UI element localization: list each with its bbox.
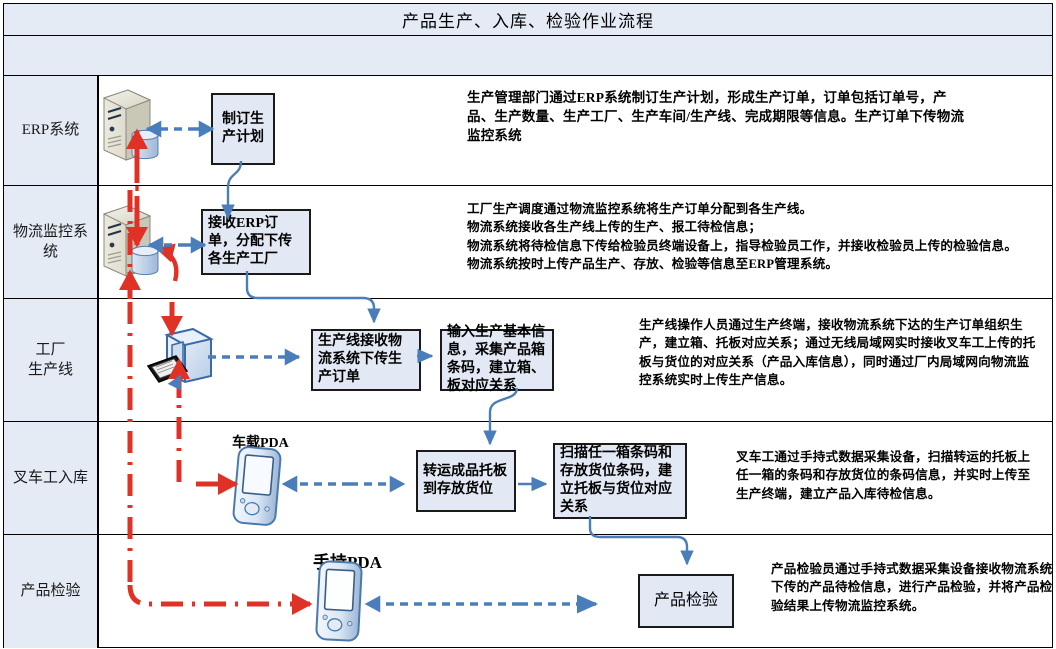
lane-body-factory-line: 生产线接收物流系统下传生产订单 输入生产基本信息，采集产品箱条码，建立箱、板对应…: [99, 299, 1052, 421]
process-box-inspect-product-label: 产品检验: [654, 591, 718, 611]
process-box-make-plan-label: 制订生 产计划: [222, 111, 264, 147]
spacer-row: [4, 36, 1052, 76]
process-box-move-pallet[interactable]: 转运成品托板到存放货位: [416, 450, 516, 512]
lane-factory-line: 工厂 生产线 生产线接收物流系统下传生产订单 输入生产基本信息，采集产品箱条码，…: [4, 299, 1052, 422]
lane-erp: ERP系统 制订生 产计划 生产管理部门通过ERP系统制订生产计划，形成生产订单…: [4, 76, 1052, 186]
flowchart-page: 产品生产、入库、检验作业流程 ERP系统 制订生 产计划 生产管理部门通过ERP…: [0, 0, 1056, 649]
lane-body-forklift-inbound: 车载PDA 转运成品托板到存放货位 扫描任一箱条码和存放货位条码，建立托板与货位…: [99, 422, 1052, 534]
diagram-title-row: 产品生产、入库、检验作业流程: [4, 4, 1052, 36]
process-box-inspect-product[interactable]: 产品检验: [638, 574, 734, 628]
lane-logistics: 物流监控系统 接收ERP订单，分配下传各生产工厂 工厂生产调度通过物流监控系统将…: [4, 186, 1052, 299]
device-caption-handheld-pda: 手持PDA: [313, 548, 382, 573]
process-box-input-basic-info[interactable]: 输入生产基本信息，采集产品箱条码，建立箱、板对应关系: [440, 329, 554, 391]
lane-forklift-inbound: 叉车工入库 车载PDA 转运成品托板到存放货位 扫描任一箱条码和存放货位条码，建…: [4, 422, 1052, 535]
process-box-scan-barcode-label: 扫描任一箱条码和存放货位条码，建立托板与货位对应关系: [560, 445, 680, 517]
process-box-input-basic-info-label: 输入生产基本信息，采集产品箱条码，建立箱、板对应关系: [447, 324, 547, 396]
description-erp: 生产管理部门通过ERP系统制订生产计划，形成生产订单，订单包括订单号，产品、生产…: [467, 88, 972, 145]
description-logistics: 工厂生产调度通过物流监控系统将生产订单分配到各生产线。 物流系统接收各生产线上传…: [467, 200, 1037, 273]
lane-label-logistics: 物流监控系统: [4, 186, 99, 298]
swimlane-table: 产品生产、入库、检验作业流程 ERP系统 制订生 产计划 生产管理部门通过ERP…: [3, 3, 1053, 648]
lane-label-erp: ERP系统: [4, 76, 99, 185]
lane-label-factory-line: 工厂 生产线: [4, 299, 99, 421]
process-box-line-receive-order[interactable]: 生产线接收物流系统下传生产订单: [311, 329, 421, 391]
process-box-line-receive-order-label: 生产线接收物流系统下传生产订单: [318, 333, 414, 387]
description-forklift-inbound: 叉车工通过手持式数据采集设备，扫描转运的托板上任一箱的条码和存放货位的条码信息，…: [736, 448, 1041, 503]
description-product-inspection: 产品检验员通过手持式数据采集设备接收物流系统下传的产品待检信息，进行产品检验，并…: [771, 560, 1056, 615]
lane-label-forklift-inbound: 叉车工入库: [4, 422, 99, 534]
lane-body-product-inspection: 手持PDA 产品检验 产品检验员通过手持式数据采集设备接收物流系统下传的产品待检…: [99, 535, 1052, 648]
process-box-receive-erp-order-label: 接收ERP订单，分配下传各生产工厂: [208, 215, 304, 269]
lane-body-erp: 制订生 产计划 生产管理部门通过ERP系统制订生产计划，形成生产订单，订单包括订…: [99, 76, 1052, 185]
lane-body-logistics: 接收ERP订单，分配下传各生产工厂 工厂生产调度通过物流监控系统将生产订单分配到…: [99, 186, 1052, 298]
page-title: 产品生产、入库、检验作业流程: [402, 7, 654, 32]
process-box-move-pallet-label: 转运成品托板到存放货位: [423, 463, 509, 499]
lane-product-inspection: 产品检验 手持PDA 产品检验 产品检验员通过手持式数据采集设备接收物流系统下传…: [4, 535, 1052, 648]
process-box-make-plan[interactable]: 制订生 产计划: [211, 93, 275, 165]
lane-label-product-inspection: 产品检验: [4, 535, 99, 648]
description-factory-line: 生产线操作人员通过生产终端，接收物流系统下达的生产订单组织生产，建立箱、托板对应…: [639, 316, 1039, 389]
process-box-scan-barcode[interactable]: 扫描任一箱条码和存放货位条码，建立托板与货位对应关系: [553, 443, 687, 519]
process-box-receive-erp-order[interactable]: 接收ERP订单，分配下传各生产工厂: [201, 209, 311, 275]
device-caption-vehicle-pda: 车载PDA: [232, 432, 289, 452]
